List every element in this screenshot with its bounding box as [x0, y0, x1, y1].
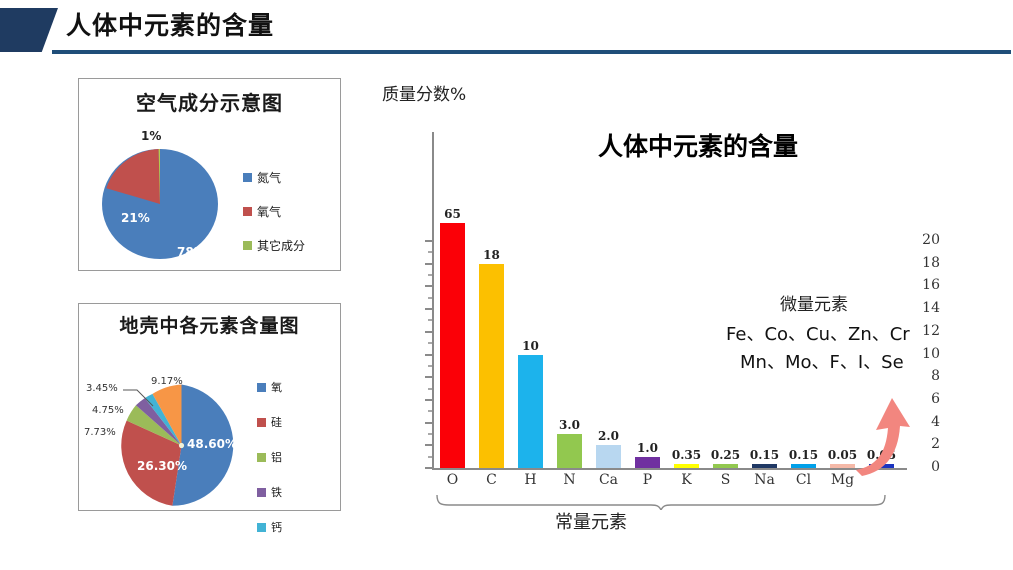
- legend-swatch-icon: [257, 488, 266, 497]
- human-body-element-bar-chart: 质量分数% 人体中元素的含量 02468101214161820 6518103…: [380, 80, 940, 520]
- macro-element-brace: [435, 494, 887, 510]
- legend-item-aluminium: 铝: [257, 449, 282, 465]
- legend-item-calcium: 钙: [257, 519, 282, 535]
- crust-value-aluminium: 7.73%: [84, 427, 116, 438]
- legend-label-silicon: 硅: [271, 414, 282, 430]
- x-axis-line: [432, 468, 907, 470]
- air-legend: 氮气 氧气 其它成分: [243, 169, 305, 263]
- macro-elements-label: 常量元素: [555, 508, 627, 534]
- legend-swatch-icon: [257, 453, 266, 462]
- crust-leader-line: [123, 384, 163, 410]
- legend-item-oxygen: 氧: [257, 379, 282, 395]
- bar-value-label: 0.15: [743, 448, 786, 462]
- bar-value-label: 0.15: [782, 448, 825, 462]
- air-value-oxygen: 21%: [121, 211, 150, 225]
- air-composition-panel: 空气成分示意图 78% 21% 1% 氮气 氧气: [78, 78, 341, 271]
- legend-swatch-icon: [243, 207, 252, 216]
- bar-value-label: 18: [470, 248, 513, 262]
- crust-value-oxygen: 48.60%: [187, 437, 237, 451]
- legend-swatch-icon: [243, 241, 252, 250]
- legend-item-iron: 铁: [257, 484, 282, 500]
- bar-O: [440, 223, 465, 468]
- bar-K: [674, 464, 699, 468]
- legend-label-other: 其它成分: [257, 237, 305, 254]
- crust-chart-title: 地壳中各元素含量图: [79, 311, 340, 338]
- x-label-H: H: [511, 472, 550, 488]
- bar-C: [479, 264, 504, 468]
- bar-Ca: [596, 445, 621, 468]
- x-label-K: K: [667, 472, 706, 488]
- trace-elements-line-1: Fe、Co、Cu、Zn、Cr: [726, 320, 910, 346]
- bar-N: [557, 434, 582, 468]
- bar-value-label: 65: [431, 207, 474, 221]
- crust-legend: 氧 硅 铝 铁 钙: [257, 379, 282, 545]
- trace-elements-title: 微量元素: [780, 290, 848, 315]
- legend-item-other: 其它成分: [243, 237, 305, 254]
- air-pie-svg: [101, 148, 219, 260]
- x-label-O: O: [433, 472, 472, 488]
- legend-label-calcium: 钙: [271, 519, 282, 535]
- x-label-Ca: Ca: [589, 472, 628, 488]
- legend-label-nitrogen: 氮气: [257, 169, 281, 186]
- bar-H: [518, 355, 543, 469]
- crust-value-calcium: 3.45%: [86, 383, 118, 394]
- legend-swatch-icon: [243, 173, 252, 182]
- bar-value-label: 0.35: [665, 448, 708, 462]
- legend-swatch-icon: [257, 523, 266, 532]
- crust-pie-body: 48.60% 26.30% 7.73% 4.75% 3.45% 9.17% 氧 …: [79, 338, 340, 544]
- header-accent-shape: [0, 8, 58, 52]
- x-label-S: S: [706, 472, 745, 488]
- legend-swatch-icon: [257, 418, 266, 427]
- air-value-other: 1%: [141, 129, 161, 143]
- legend-label-aluminium: 铝: [271, 449, 282, 465]
- bar-value-label: 0.25: [704, 448, 747, 462]
- x-label-Cl: Cl: [784, 472, 823, 488]
- legend-label-oxygen: 氧气: [257, 203, 281, 220]
- x-label-N: N: [550, 472, 589, 488]
- bar-P: [635, 457, 660, 468]
- air-value-nitrogen: 78%: [177, 245, 206, 259]
- air-pie-body: 78% 21% 1% 氮气 氧气 其它成分: [79, 116, 340, 307]
- air-chart-title: 空气成分示意图: [79, 87, 340, 116]
- bar-value-label: 2.0: [587, 429, 630, 443]
- legend-label-oxygen: 氧: [271, 379, 282, 395]
- crust-value-iron: 4.75%: [92, 405, 124, 416]
- bar-Cl: [791, 464, 816, 468]
- legend-item-nitrogen: 氮气: [243, 169, 305, 186]
- crust-value-silicon: 26.30%: [137, 459, 187, 473]
- trace-elements-line-2: Mn、Mo、F、I、Se: [740, 348, 904, 374]
- bar-Na: [752, 464, 777, 468]
- page-title: 人体中元素的含量: [66, 6, 274, 42]
- bar-value-label: 3.0: [548, 418, 591, 432]
- legend-swatch-icon: [257, 383, 266, 392]
- header-rule: [52, 50, 1011, 54]
- legend-label-iron: 铁: [271, 484, 282, 500]
- crust-composition-panel: 地壳中各元素含量图 48.60% 26.30% 7.73% 4.75% 3.45…: [78, 303, 341, 511]
- slide: 人体中元素的含量 空气成分示意图 78% 21% 1% 氮气: [0, 0, 1013, 570]
- x-label-Na: Na: [745, 472, 784, 488]
- legend-item-oxygen: 氧气: [243, 203, 305, 220]
- bar-value-label: 1.0: [626, 441, 669, 455]
- trace-elements-arrow-icon: [848, 380, 918, 478]
- legend-item-silicon: 硅: [257, 414, 282, 430]
- x-label-P: P: [628, 472, 667, 488]
- x-label-C: C: [472, 472, 511, 488]
- bar-value-label: 10: [509, 339, 552, 353]
- bar-S: [713, 464, 738, 468]
